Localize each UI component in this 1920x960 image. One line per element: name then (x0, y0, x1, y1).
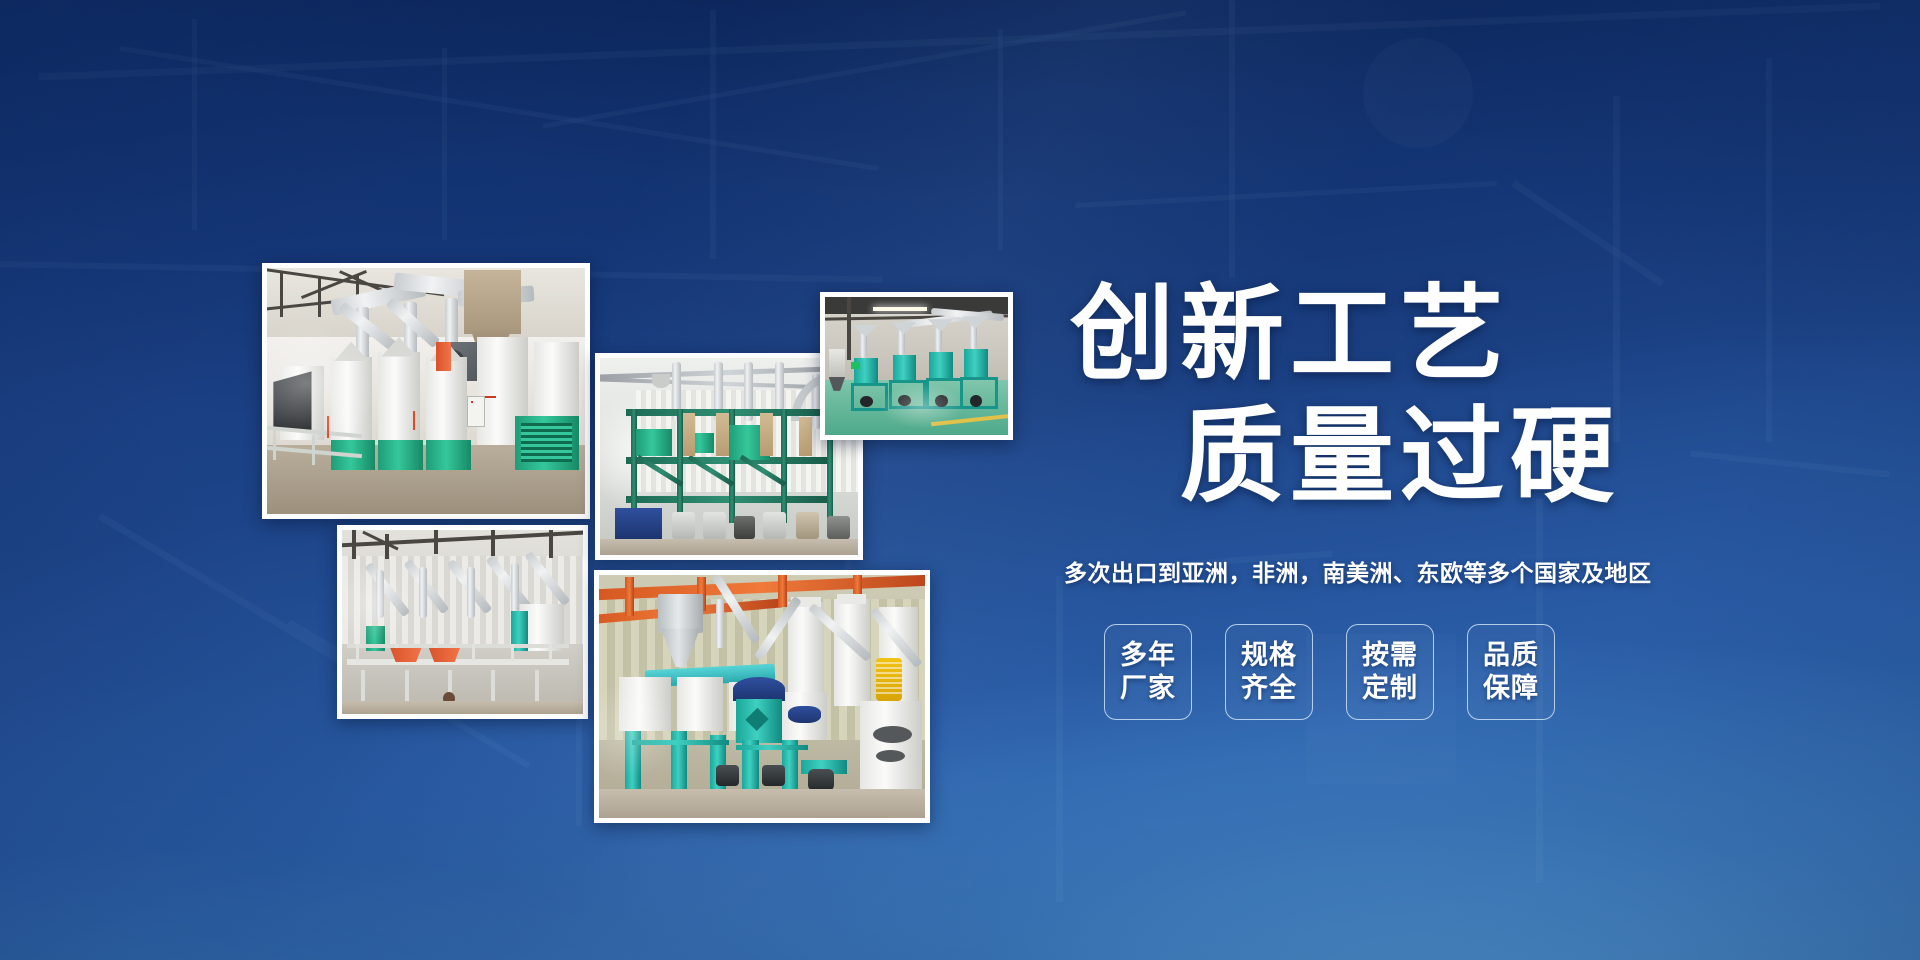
copy-block: 创新工艺 质量过硬 多次出口到亚洲，非洲，南美洲、东欧等多个国家及地区 多年 厂… (1060, 280, 1680, 720)
badge-line-1: 多年 (1120, 639, 1176, 672)
collage-photo-elevated-platform-line (337, 525, 588, 719)
feature-badge-custom-made[interactable]: 按需 定制 (1346, 624, 1434, 720)
feature-badge-years-manufacturer[interactable]: 多年 厂家 (1104, 624, 1192, 720)
badge-line-2: 定制 (1362, 672, 1418, 705)
badge-line-2: 齐全 (1241, 672, 1297, 705)
promo-banner: 创新工艺 质量过硬 多次出口到亚洲，非洲，南美洲、东欧等多个国家及地区 多年 厂… (0, 0, 1920, 960)
headline-line-2: 质量过硬 (1180, 402, 1680, 512)
feature-badge-full-specs[interactable]: 规格 齐全 (1225, 624, 1313, 720)
badge-line-2: 保障 (1483, 672, 1539, 705)
collage-photo-flour-mill-line-1 (262, 263, 590, 519)
collage-photo-teal-mill-units (594, 570, 930, 823)
collage-photo-workshop-machines-row (820, 292, 1013, 440)
badge-line-1: 品质 (1483, 639, 1539, 672)
feature-badge-quality-guarantee[interactable]: 品质 保障 (1467, 624, 1555, 720)
headline-line-1: 创新工艺 (1070, 280, 1680, 390)
badge-line-1: 规格 (1241, 639, 1297, 672)
badge-line-1: 按需 (1362, 639, 1418, 672)
feature-badge-group: 多年 厂家 规格 齐全 按需 定制 品质 保障 (1104, 624, 1680, 720)
badge-line-2: 厂家 (1120, 672, 1176, 705)
subtitle: 多次出口到亚洲，非洲，南美洲、东欧等多个国家及地区 (1064, 554, 1680, 588)
